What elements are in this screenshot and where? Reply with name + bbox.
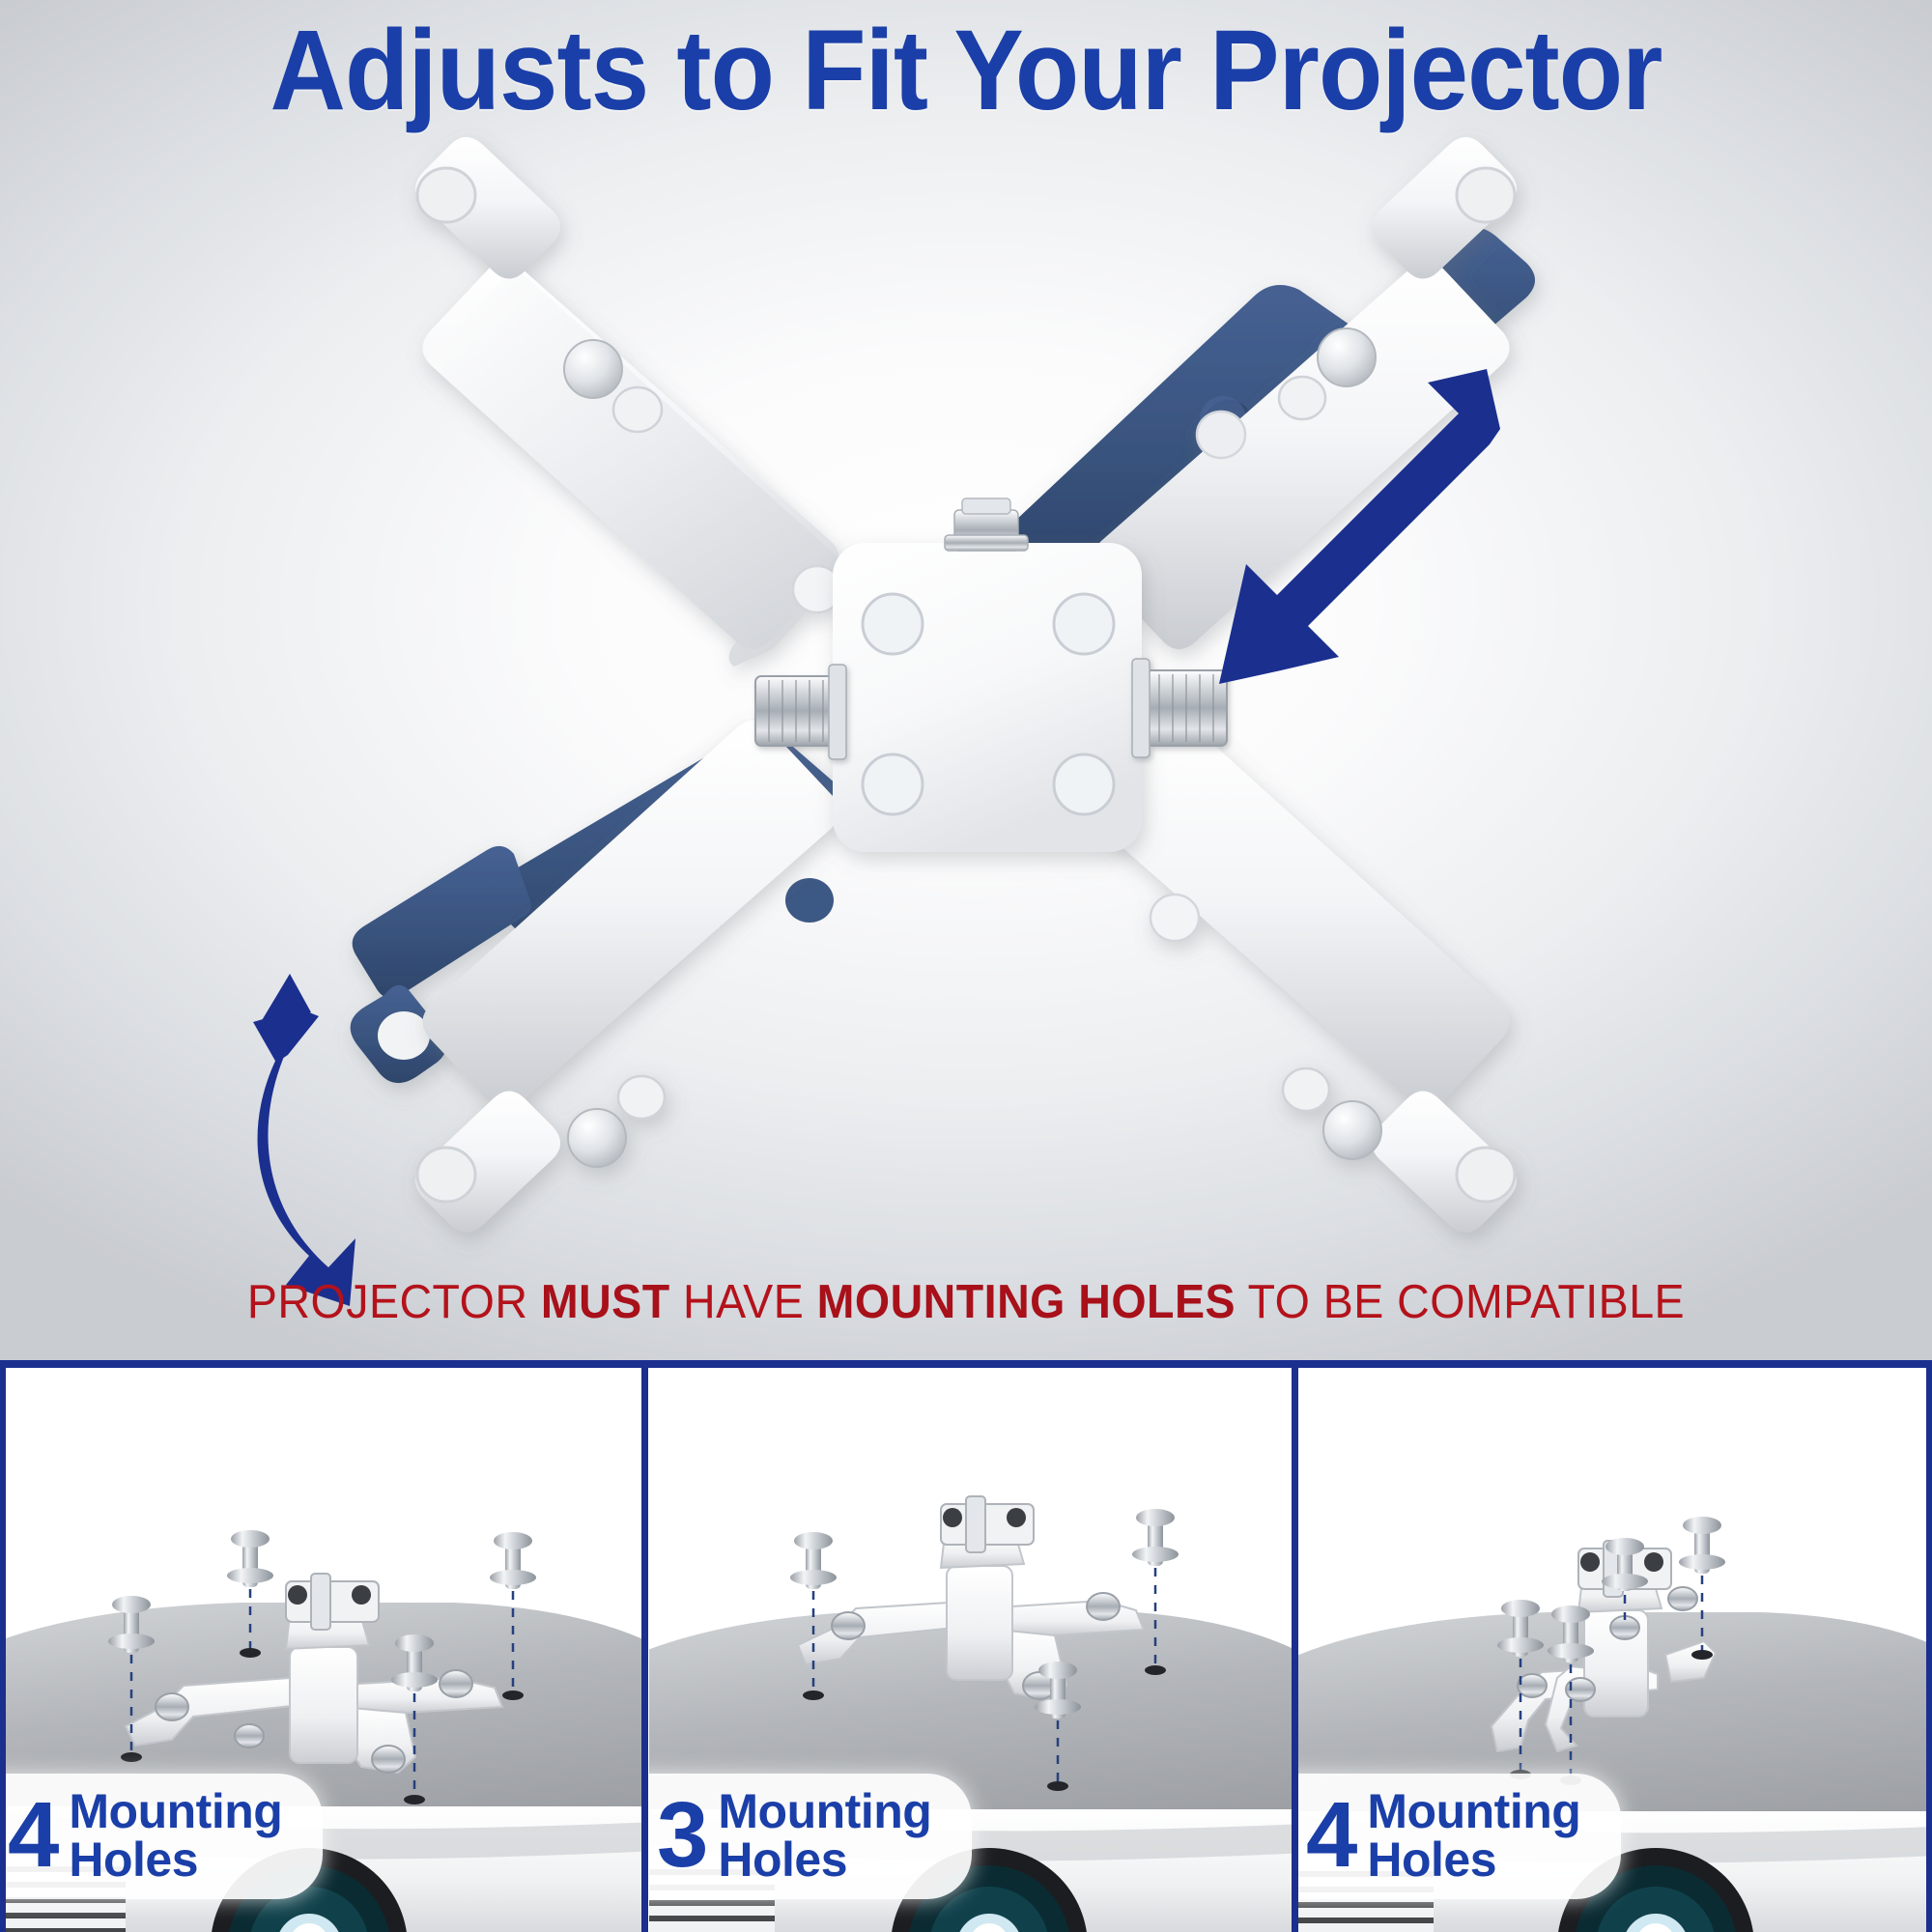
bracket-illustration <box>0 0 1932 1367</box>
status-badge: 3 Mounting Holes <box>649 1774 972 1899</box>
arm-upper-left <box>415 137 841 667</box>
bracket-hinge-hardware <box>941 1496 1034 1552</box>
panel-divider-2 <box>1292 1367 1298 1932</box>
right-knurled-knob <box>1132 659 1227 757</box>
badge-line-1: Mounting <box>69 1787 282 1835</box>
rotate-arrow-head-top <box>253 1009 319 1063</box>
panel-3-holes: 3 Mounting Holes <box>649 1367 1293 1932</box>
badge-line-2: Holes <box>718 1835 931 1884</box>
status-badge: 4 Mounting Holes <box>0 1774 323 1899</box>
arm-lower-right <box>1093 721 1517 1233</box>
panel-left-edge <box>0 1367 6 1932</box>
caption-bold-mounting-holes: MOUNTING HOLES <box>817 1276 1236 1328</box>
panel-top-divider <box>0 1360 1932 1368</box>
product-infographic: Adjusts to Fit Your Projector PROJECTOR … <box>0 0 1932 1932</box>
badge-number: 3 <box>657 1796 708 1876</box>
bracket-hinge-hardware <box>286 1574 379 1630</box>
left-knurled-knob <box>755 665 846 759</box>
badge-line-1: Mounting <box>718 1787 931 1835</box>
blue-hinge-chip <box>785 878 834 923</box>
panel-right-edge <box>1926 1367 1932 1932</box>
top-stud <box>945 498 1028 551</box>
caption-part-3: TO BE COMPATIBLE <box>1236 1276 1685 1328</box>
page-title: Adjusts to Fit Your Projector <box>77 5 1855 136</box>
badge-line-2: Holes <box>1367 1835 1580 1884</box>
panel-row: 4 Mounting Holes <box>0 1367 1932 1932</box>
caption-part-1: PROJECTOR <box>247 1276 541 1328</box>
status-badge: 4 Mounting Holes <box>1298 1774 1621 1899</box>
center-plate <box>833 543 1142 852</box>
badge-number: 4 <box>1306 1796 1357 1876</box>
badge-number: 4 <box>8 1796 59 1876</box>
hero-panel: Adjusts to Fit Your Projector PROJECTOR … <box>0 0 1932 1367</box>
panel-4-holes-wide: 4 Mounting Holes <box>0 1367 644 1932</box>
compatibility-caption: PROJECTOR MUST HAVE MOUNTING HOLES TO BE… <box>48 1275 1884 1329</box>
badge-line-2: Holes <box>69 1835 282 1884</box>
caption-part-2: HAVE <box>670 1276 817 1328</box>
caption-bold-must: MUST <box>541 1276 670 1328</box>
panel-divider-1 <box>641 1367 648 1932</box>
arm-lower-left <box>415 721 839 1233</box>
panel-4-holes-narrow: 4 Mounting Holes <box>1298 1367 1932 1932</box>
badge-line-1: Mounting <box>1367 1787 1580 1835</box>
